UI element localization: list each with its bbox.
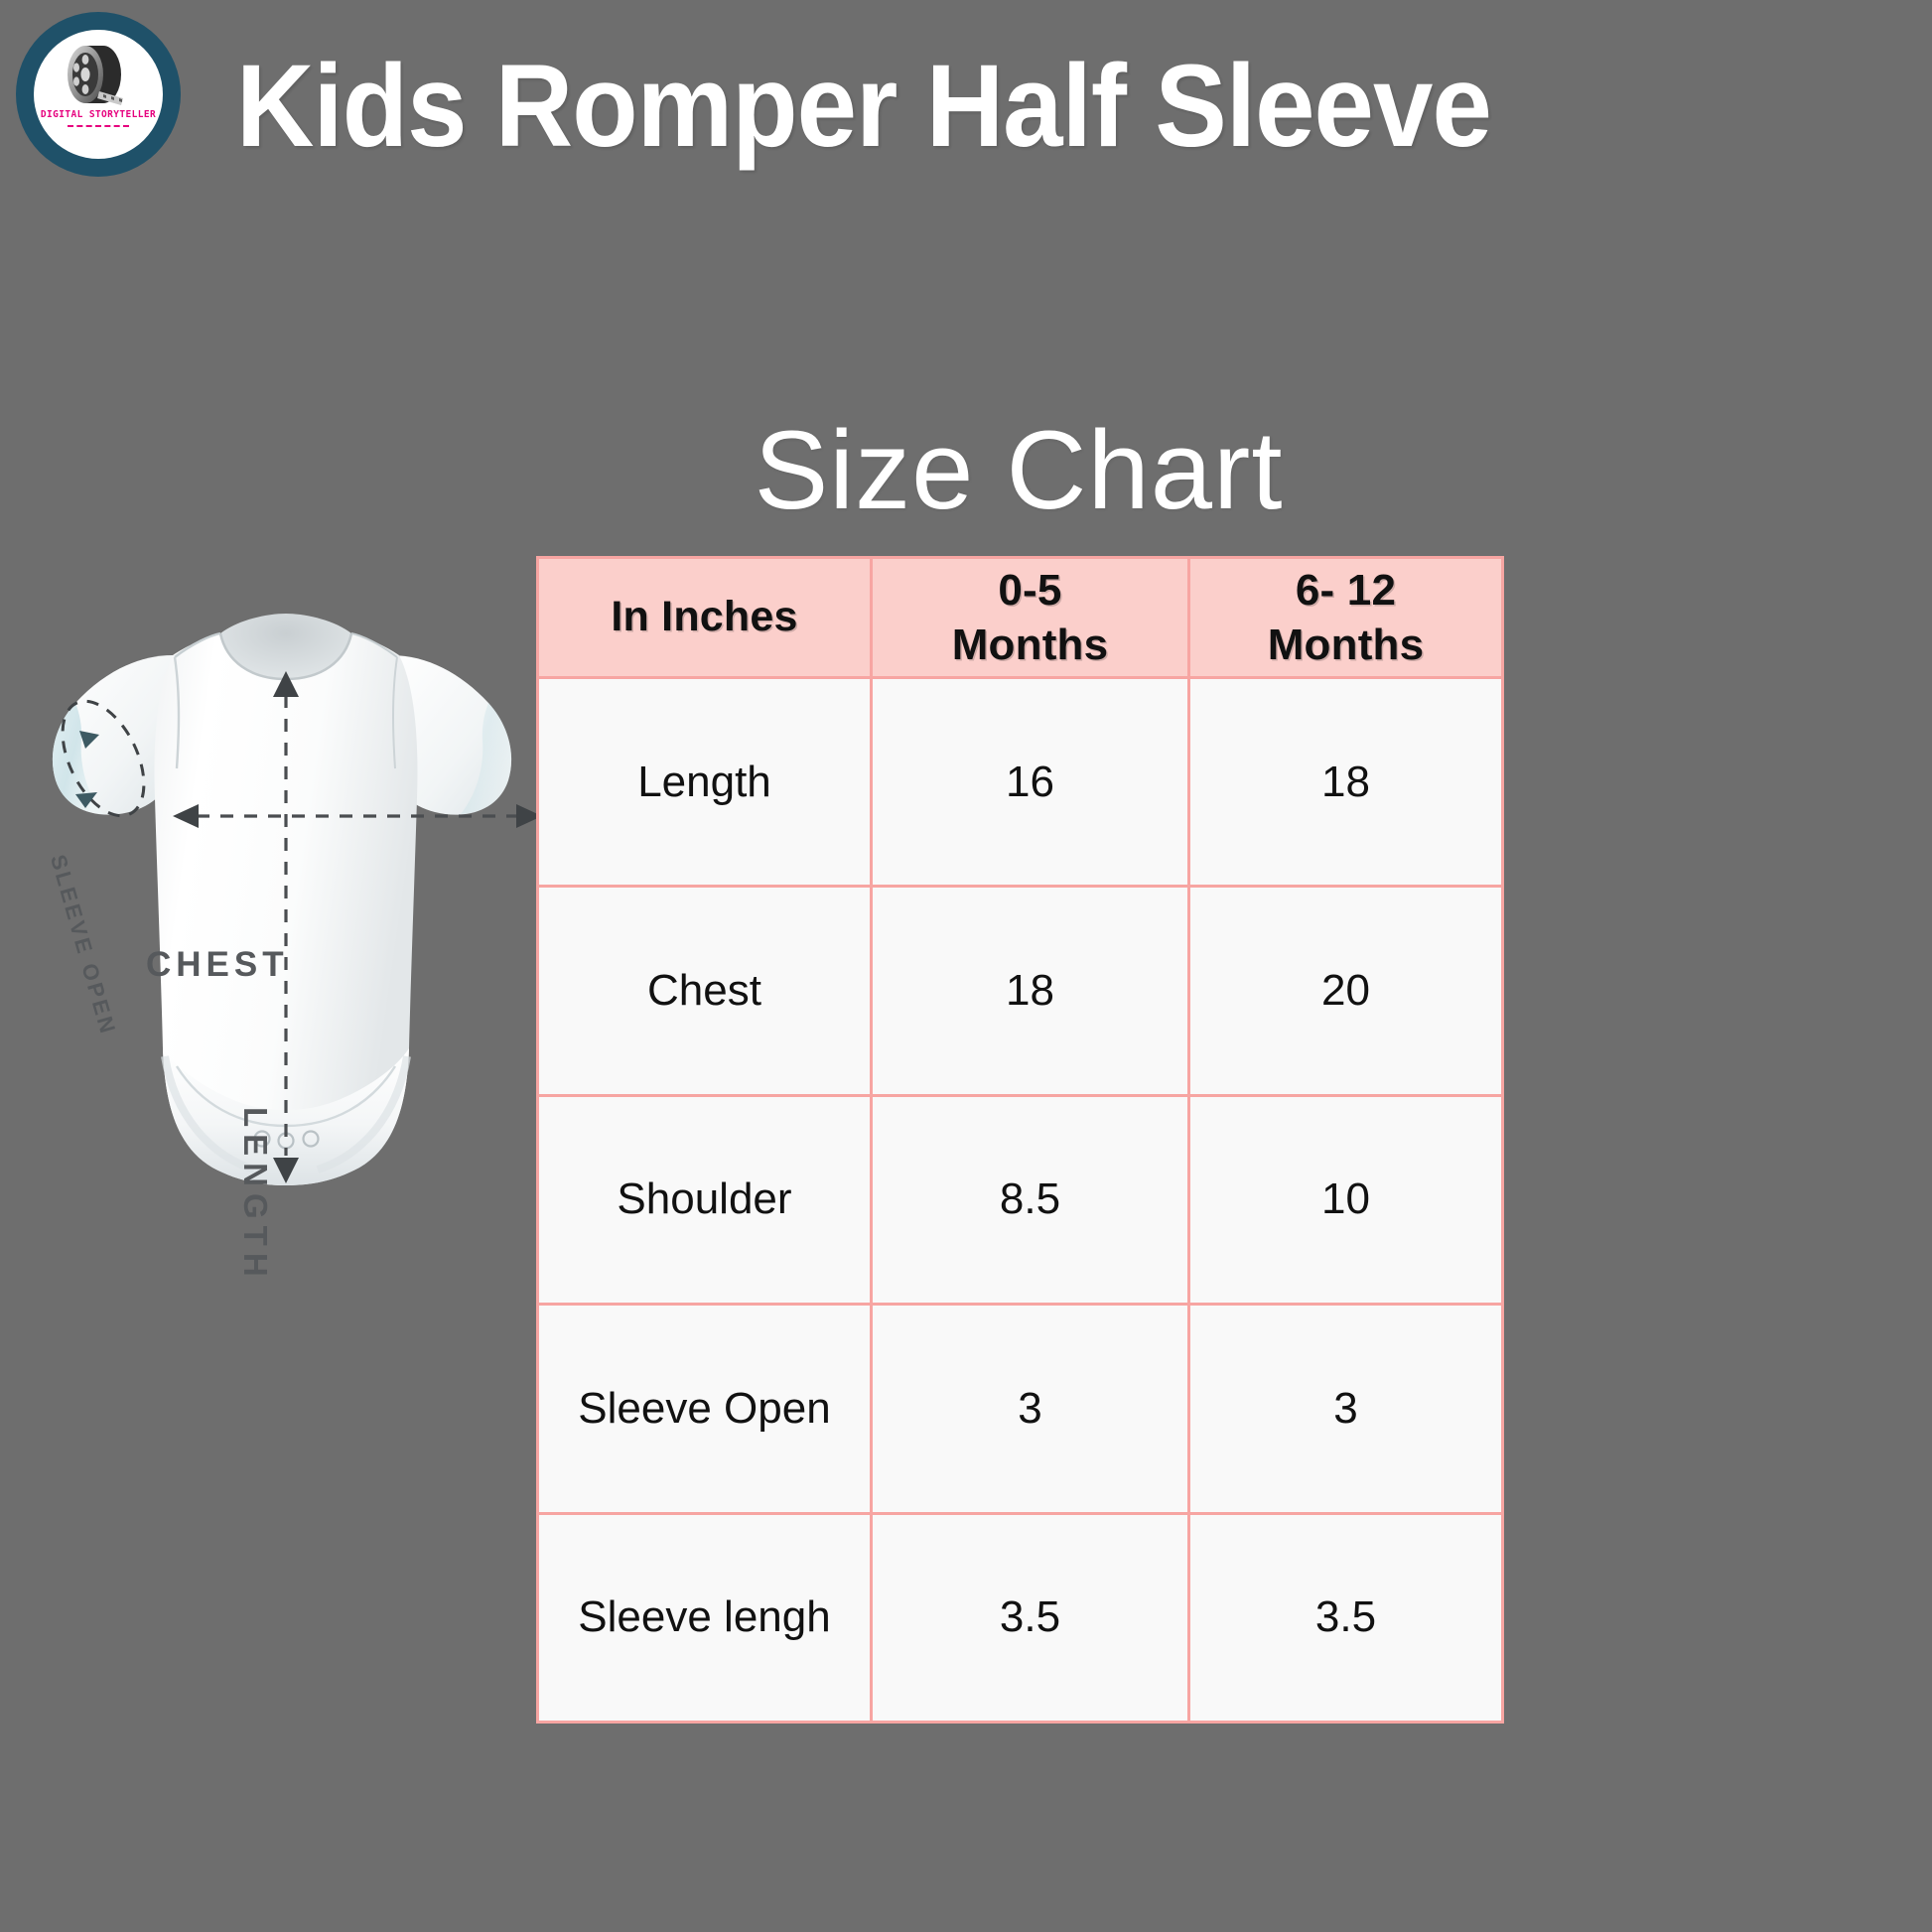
size-chart-table: In Inches 0-5 Months 6- 12 Months Length…: [536, 556, 1504, 1724]
cell-6-12-months: 10: [1189, 1095, 1503, 1304]
cell-measurement: Shoulder: [538, 1095, 872, 1304]
header-line-1: 6- 12: [1296, 566, 1396, 615]
header-line-1: 0-5: [998, 566, 1061, 615]
cell-0-5-months: 18: [872, 887, 1189, 1095]
cell-0-5-months: 3.5: [872, 1513, 1189, 1722]
cell-6-12-months: 18: [1189, 678, 1503, 887]
header-cell-0-5-months: 0-5 Months: [872, 558, 1189, 678]
cell-6-12-months: 3: [1189, 1305, 1503, 1513]
logo-dashed-rule: [68, 125, 129, 127]
brand-logo: DIGITAL STORYTELLER: [16, 12, 181, 177]
table-row: Shoulder 8.5 10: [538, 1095, 1503, 1304]
romper-illustration: [26, 600, 546, 1394]
table-header-row: In Inches 0-5 Months 6- 12 Months: [538, 558, 1503, 678]
logo-inner-disc: DIGITAL STORYTELLER: [34, 30, 163, 159]
cell-measurement: Sleeve lengh: [538, 1513, 872, 1722]
cell-0-5-months: 8.5: [872, 1095, 1189, 1304]
cell-6-12-months: 3.5: [1189, 1513, 1503, 1722]
cell-measurement: Sleeve Open: [538, 1305, 872, 1513]
table-header: In Inches 0-5 Months 6- 12 Months: [538, 558, 1503, 678]
header-line-2: Months: [1196, 618, 1495, 672]
cell-measurement: Length: [538, 678, 872, 887]
film-reel-icon: [56, 44, 141, 105]
cell-measurement: Chest: [538, 887, 872, 1095]
romper-graphic: [26, 600, 546, 1394]
size-chart-heading: Size Chart: [536, 409, 1501, 531]
page-title: Kids Romper Half Sleeve: [236, 44, 1314, 170]
table-row: Sleeve Open 3 3: [538, 1305, 1503, 1513]
cell-6-12-months: 20: [1189, 887, 1503, 1095]
logo-brand-text: DIGITAL STORYTELLER: [41, 109, 156, 120]
table-row: Chest 18 20: [538, 887, 1503, 1095]
table-body: Length 16 18 Chest 18 20 Shoulder 8.5 10…: [538, 678, 1503, 1723]
cell-0-5-months: 16: [872, 678, 1189, 887]
table-row: Sleeve lengh 3.5 3.5: [538, 1513, 1503, 1722]
header-line-2: Months: [879, 618, 1181, 672]
cell-0-5-months: 3: [872, 1305, 1189, 1513]
table-row: Length 16 18: [538, 678, 1503, 887]
header-cell-measurement: In Inches: [538, 558, 872, 678]
header-cell-6-12-months: 6- 12 Months: [1189, 558, 1503, 678]
